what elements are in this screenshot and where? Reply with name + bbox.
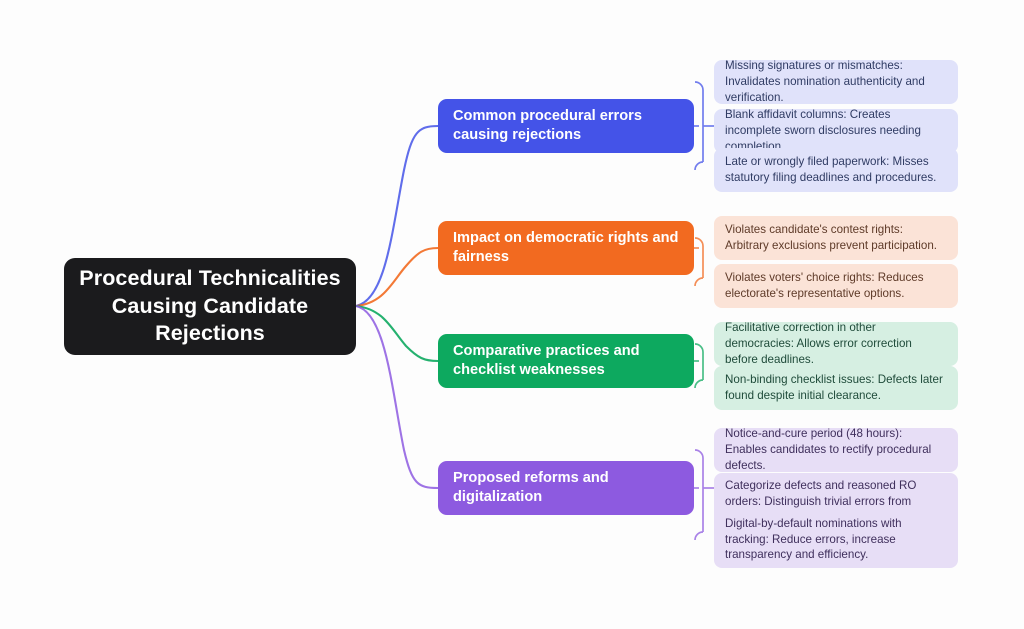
mindmap-canvas: Procedural Technicalities Causing Candid… xyxy=(0,0,1024,629)
connector-root-to-branch-2 xyxy=(356,306,438,361)
leaf-node-label: Violates candidate's contest rights: Arb… xyxy=(725,222,947,254)
leaf-node[interactable]: Late or wrongly filed paperwork: Misses … xyxy=(714,148,958,192)
branch-node-label: Common procedural errors causing rejecti… xyxy=(453,107,679,146)
leaf-node[interactable]: Violates candidate's contest rights: Arb… xyxy=(714,216,958,260)
leaf-node-label: Missing signatures or mismatches: Invali… xyxy=(725,58,947,105)
leaf-node-label: Violates voters' choice rights: Reduces … xyxy=(725,270,947,302)
leaf-node[interactable]: Digital-by-default nominations with trac… xyxy=(714,511,958,568)
connector-branch-1-bracket xyxy=(694,238,703,286)
branch-node-comparative-practices[interactable]: Comparative practices and checklist weak… xyxy=(438,334,694,388)
root-node[interactable]: Procedural Technicalities Causing Candid… xyxy=(64,258,356,355)
connector-branch-2-bracket xyxy=(694,344,703,388)
leaf-node[interactable]: Violates voters' choice rights: Reduces … xyxy=(714,264,958,308)
connector-branch-0-bracket xyxy=(694,82,714,170)
branch-node-label: Comparative practices and checklist weak… xyxy=(453,342,679,381)
leaf-node[interactable]: Blank affidavit columns: Creates incompl… xyxy=(714,109,958,153)
branch-node-label: Impact on democratic rights and fairness xyxy=(453,229,679,268)
connector-root-to-branch-0 xyxy=(356,126,438,306)
leaf-node[interactable]: Missing signatures or mismatches: Invali… xyxy=(714,60,958,104)
branch-node-common-procedural-errors[interactable]: Common procedural errors causing rejecti… xyxy=(438,99,694,153)
root-node-label: Procedural Technicalities Causing Candid… xyxy=(78,265,342,349)
leaf-node-label: Facilitative correction in other democra… xyxy=(725,320,947,367)
leaf-node-label: Late or wrongly filed paperwork: Misses … xyxy=(725,154,947,186)
branch-node-label: Proposed reforms and digitalization xyxy=(453,469,679,508)
leaf-node[interactable]: Non-binding checklist issues: Defects la… xyxy=(714,366,958,410)
leaf-node-label: Non-binding checklist issues: Defects la… xyxy=(725,372,947,404)
connector-branch-3-bracket xyxy=(694,450,714,540)
connector-root-to-branch-1 xyxy=(356,248,438,306)
leaf-node[interactable]: Facilitative correction in other democra… xyxy=(714,322,958,366)
leaf-node-label: Notice-and-cure period (48 hours): Enabl… xyxy=(725,426,947,473)
connector-root-to-branch-3 xyxy=(356,306,438,488)
branch-node-impact-on-democratic-rights[interactable]: Impact on democratic rights and fairness xyxy=(438,221,694,275)
branch-node-proposed-reforms[interactable]: Proposed reforms and digitalization xyxy=(438,461,694,515)
leaf-node-label: Digital-by-default nominations with trac… xyxy=(725,516,947,563)
leaf-node[interactable]: Notice-and-cure period (48 hours): Enabl… xyxy=(714,428,958,472)
